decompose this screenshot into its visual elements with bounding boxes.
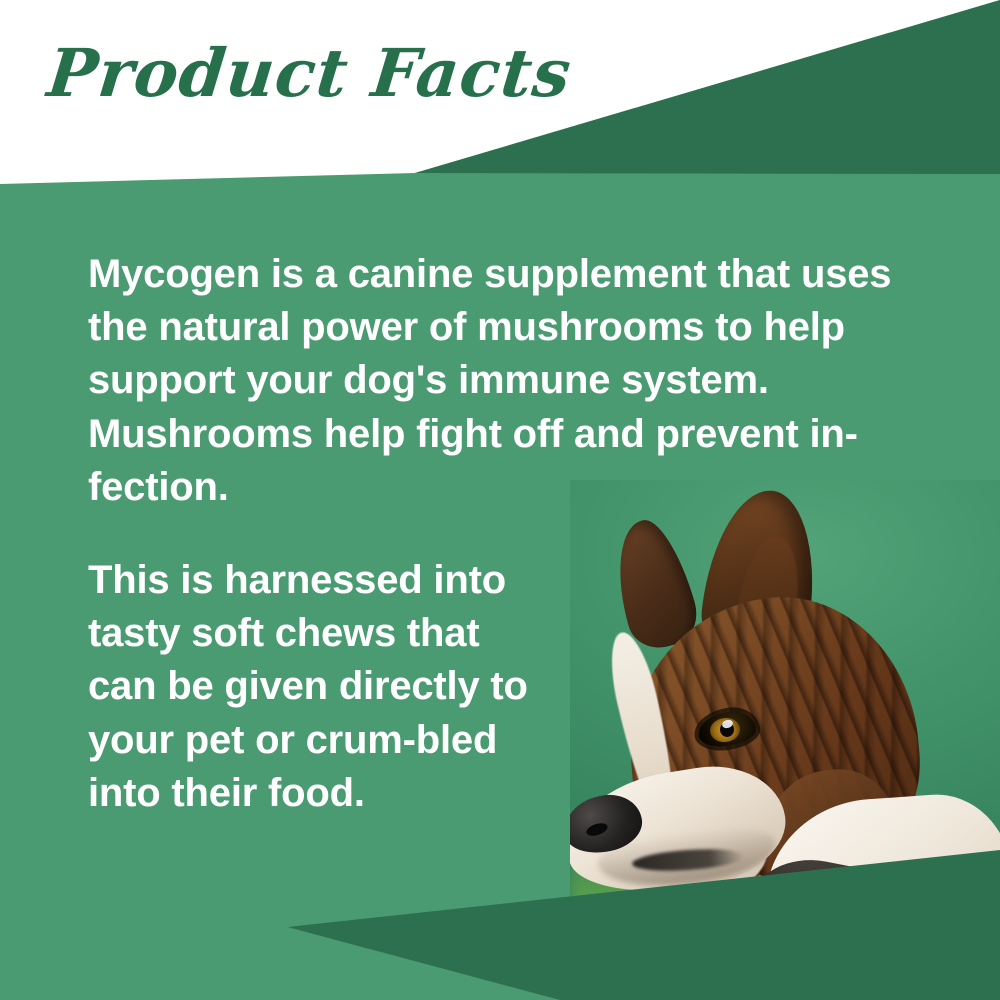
- product-facts-poster: Product Facts: [0, 0, 1000, 1000]
- page-title: Product Facts: [44, 34, 575, 112]
- body-copy: Mycogen is a canine supplement that uses…: [88, 248, 948, 820]
- paragraph-2: This is harnessed into tasty soft chews …: [88, 554, 558, 820]
- paragraph-1: Mycogen is a canine supplement that uses…: [88, 248, 948, 514]
